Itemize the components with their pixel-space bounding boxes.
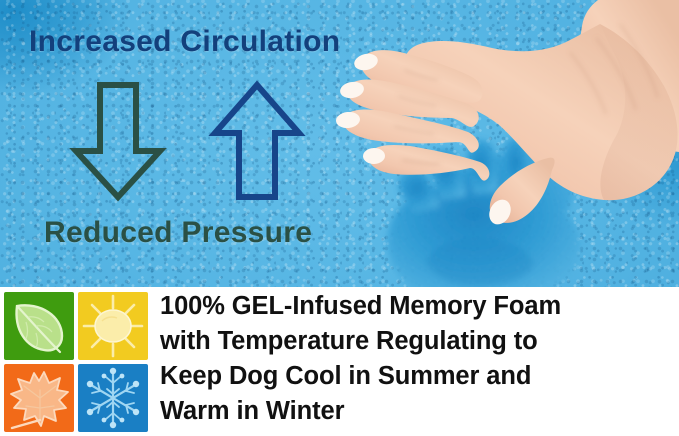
claim-line-2: with Temperature Regulating to — [160, 324, 672, 359]
claim-line-3: Keep Dog Cool in Summer and — [160, 359, 672, 394]
leaf-icon — [4, 292, 74, 360]
snowflake-icon — [78, 364, 148, 432]
product-claim-text: 100% GEL-Infused Memory Foam with Temper… — [160, 289, 672, 429]
increased-circulation-label: Increased Circulation — [29, 25, 340, 59]
season-tile-winter — [78, 364, 148, 432]
hand — [335, 0, 679, 228]
maple-leaf-icon — [4, 364, 74, 432]
memory-foam-photo: Increased Circulation Reduced Pressure — [0, 0, 679, 287]
sun-icon — [78, 292, 148, 360]
season-tile-spring — [4, 292, 74, 360]
product-infographic: Increased Circulation Reduced Pressure — [0, 0, 679, 436]
product-claim-panel: 100% GEL-Infused Memory Foam with Temper… — [0, 287, 679, 436]
arrow-down-icon — [66, 79, 170, 205]
reduced-pressure-label: Reduced Pressure — [44, 216, 312, 250]
season-tile-summer — [78, 292, 148, 360]
claim-line-1: 100% GEL-Infused Memory Foam — [160, 289, 672, 324]
claim-line-4: Warm in Winter — [160, 394, 672, 429]
season-tile-autumn — [4, 364, 74, 432]
season-icon-grid — [4, 292, 148, 432]
arrow-up-icon — [205, 79, 309, 205]
